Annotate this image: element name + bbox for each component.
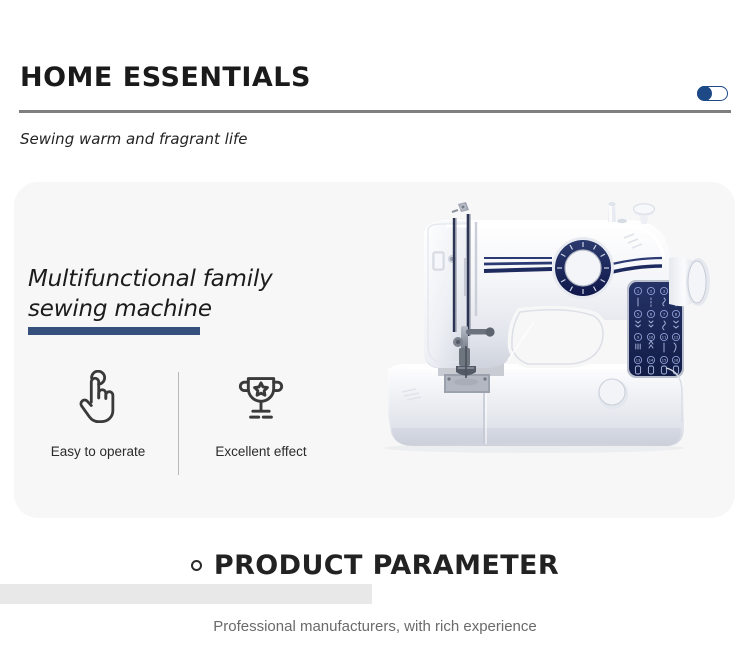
svg-text:14: 14 xyxy=(649,358,654,362)
trophy-star-icon xyxy=(232,370,290,428)
product-parameter-subtitle: Professional manufacturers, with rich ex… xyxy=(0,618,750,635)
svg-text:15: 15 xyxy=(662,358,667,362)
hero-card: Multifunctional family sewing machine Ea… xyxy=(14,182,735,518)
hero-heading: Multifunctional family sewing machine xyxy=(28,264,328,324)
circle-outline-icon xyxy=(191,560,202,571)
svg-text:2: 2 xyxy=(650,289,652,293)
feature-item-excellent-effect: Excellent effect xyxy=(191,370,331,480)
svg-text:7: 7 xyxy=(663,312,665,316)
svg-text:12: 12 xyxy=(674,335,679,339)
svg-text:16: 16 xyxy=(674,358,679,362)
svg-text:13: 13 xyxy=(636,358,641,362)
product-parameter-title: PRODUCT PARAMETER xyxy=(214,552,559,579)
svg-text:3: 3 xyxy=(663,289,665,293)
svg-text:11: 11 xyxy=(662,335,667,339)
toggle-switch[interactable] xyxy=(697,86,728,101)
tap-hand-icon xyxy=(69,370,127,428)
toggle-knob-icon xyxy=(697,86,712,101)
page-title: HOME ESSENTIALS xyxy=(20,64,311,91)
product-parameter-header: PRODUCT PARAMETER xyxy=(0,552,750,579)
hero-accent-bar xyxy=(28,327,200,335)
page-root: HOME ESSENTIALS Sewing warm and fragrant… xyxy=(0,0,750,652)
sewing-machine-photo: 12 34 56 78 910 1112 1314 1516 xyxy=(366,196,726,518)
header-subtitle: Sewing warm and fragrant life xyxy=(20,130,248,148)
feature-item-easy-to-operate: Easy to operate xyxy=(28,370,168,480)
title-highlight-band xyxy=(0,584,372,604)
svg-text:1: 1 xyxy=(637,289,639,293)
feature-label: Excellent effect xyxy=(215,444,306,459)
feature-divider xyxy=(178,372,179,475)
svg-text:10: 10 xyxy=(649,335,654,339)
page-header: HOME ESSENTIALS Sewing warm and fragrant… xyxy=(0,0,750,168)
svg-text:5: 5 xyxy=(637,312,639,316)
header-divider xyxy=(19,110,731,113)
feature-list: Easy to operate Excellent xyxy=(28,370,348,480)
feature-label: Easy to operate xyxy=(51,444,146,459)
